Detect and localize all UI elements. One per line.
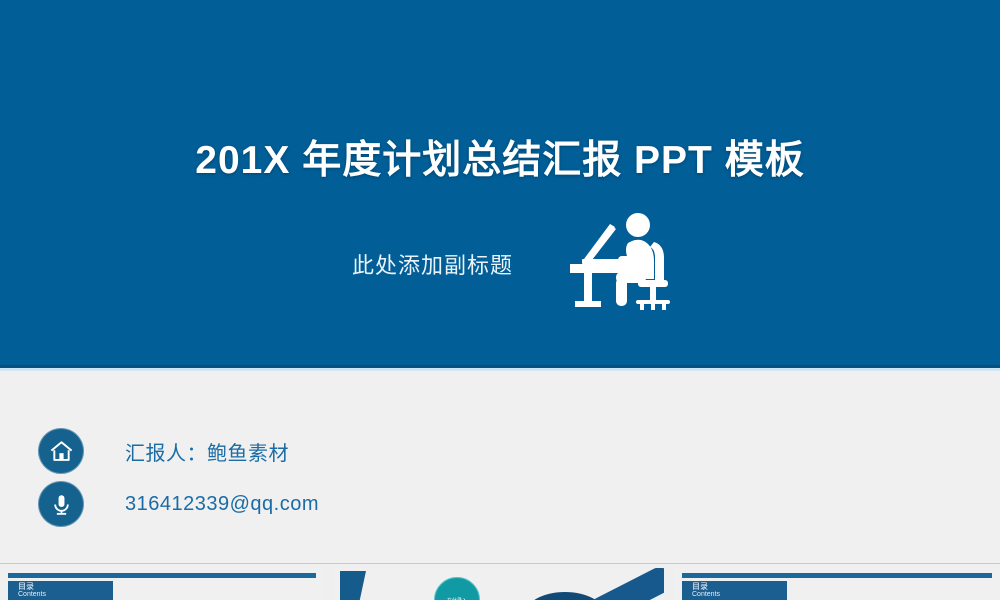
thumbnail-contents-tag: 目录 Contents — [682, 581, 787, 600]
decorative-circle-label: 在此录入 — [434, 577, 480, 600]
decorative-bar-shape — [585, 568, 664, 600]
contact-row-presenter: 汇报人：鲍鱼素材 — [38, 428, 289, 474]
slide-thumbnail-3[interactable]: 目录 Contents — [674, 568, 1000, 600]
home-icon — [38, 428, 84, 474]
thumbnail-tag-en: Contents — [692, 591, 787, 599]
microphone-icon — [38, 481, 84, 527]
slide-subtitle: 此处添加副标题 — [352, 248, 513, 280]
email-label: 316412339@qq.com — [125, 493, 319, 516]
hero-bottom-highlight — [0, 368, 1000, 371]
slide-thumbnail-strip[interactable]: 目录 Contents 在此录入 目录 Contents — [0, 563, 1000, 600]
slide-thumbnail-1[interactable]: 目录 Contents — [0, 568, 324, 600]
person-at-desk-icon — [566, 198, 686, 316]
slide-title: 201X 年度计划总结汇报 PPT 模板 — [0, 129, 1000, 185]
thumbnail-contents-tag: 目录 Contents — [8, 581, 113, 600]
thumbnail-tag-en: Contents — [18, 591, 113, 599]
decorative-blob-shape — [526, 592, 604, 600]
contact-row-email: 316412339@qq.com — [38, 481, 319, 527]
presentation-slide: 201X 年度计划总结汇报 PPT 模板 此处添加副标题 — [0, 0, 1000, 600]
presenter-label: 汇报人：鲍鱼素材 — [125, 437, 289, 466]
thumbnail-accent-bar — [8, 573, 316, 578]
decorative-slant-shape — [340, 571, 366, 600]
slide-thumbnail-2[interactable]: 在此录入 — [334, 568, 664, 600]
thumbnail-tag-cn: 目录 — [692, 582, 787, 591]
thumbnail-accent-bar — [682, 573, 992, 578]
thumbnail-tag-cn: 目录 — [18, 582, 113, 591]
